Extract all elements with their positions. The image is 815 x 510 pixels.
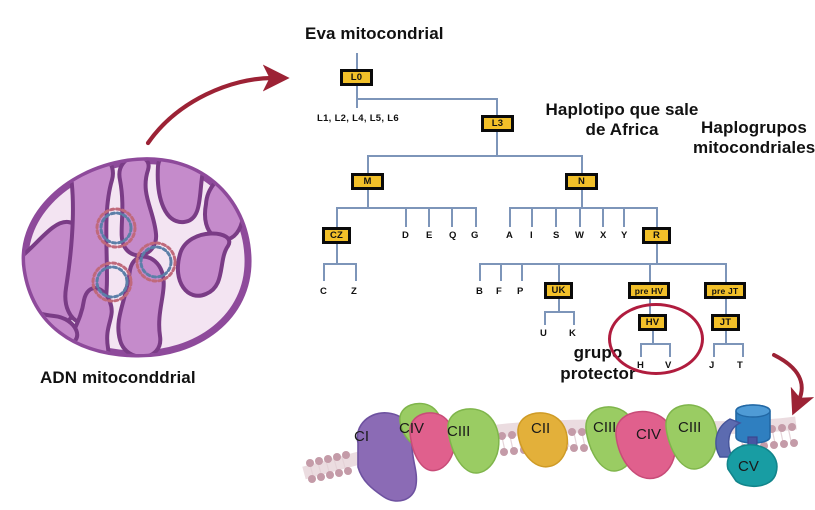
leaf-V: V (665, 360, 672, 371)
node-L0[interactable]: L0 (341, 70, 372, 85)
node-pre-HV[interactable]: pre HV (629, 283, 669, 298)
node-UK[interactable]: UK (545, 283, 572, 298)
leaf-U: U (540, 328, 547, 339)
node-R[interactable]: R (643, 228, 670, 243)
leaf-X: X (600, 230, 607, 241)
leaf-J: J (709, 360, 715, 371)
leaf-A: A (506, 230, 513, 241)
leaf-L-group: L1, L2, L4, L5, L6 (317, 113, 399, 124)
leaf-F: F (496, 286, 502, 297)
leaf-C: C (320, 286, 327, 297)
node-L3[interactable]: L3 (482, 116, 513, 131)
leaf-H: H (637, 360, 644, 371)
label-CIII-3: CIII (678, 419, 701, 436)
label-CIV-2: CIV (636, 426, 661, 443)
leaf-W: W (575, 230, 584, 241)
leaf-G: G (471, 230, 479, 241)
leaf-P: P (517, 286, 524, 297)
leaf-Z: Z (351, 286, 357, 297)
leaf-Q: Q (449, 230, 457, 241)
label-CV: CV (738, 458, 759, 475)
label-CIII-2: CIII (593, 419, 616, 436)
leaf-T: T (737, 360, 743, 371)
leaf-K: K (569, 328, 576, 339)
figure-canvas: ADN mitoconddrial Eva mitocondrial Haplo… (0, 0, 815, 510)
leaf-I: I (530, 230, 533, 241)
leaf-D: D (402, 230, 409, 241)
node-HV[interactable]: HV (639, 315, 666, 330)
label-CI: CI (354, 428, 369, 445)
leaf-E: E (426, 230, 433, 241)
label-CIV-1: CIV (399, 420, 424, 437)
label-CIII-1: CIII (447, 423, 470, 440)
etc-membrane-illustration: CI CIV CIII CII CIII CIV CIII CV (300, 385, 800, 505)
node-JT[interactable]: JT (712, 315, 739, 330)
node-pre-JT[interactable]: pre JT (705, 283, 745, 298)
node-CZ[interactable]: CZ (323, 228, 350, 243)
leaf-B: B (476, 286, 483, 297)
node-N[interactable]: N (566, 174, 597, 189)
leaf-Y: Y (621, 230, 628, 241)
node-M[interactable]: M (352, 174, 383, 189)
leaf-S: S (553, 230, 560, 241)
label-CII: CII (531, 420, 550, 437)
complex-III-1 (448, 409, 499, 473)
arrow-mito-to-tree (148, 78, 272, 143)
